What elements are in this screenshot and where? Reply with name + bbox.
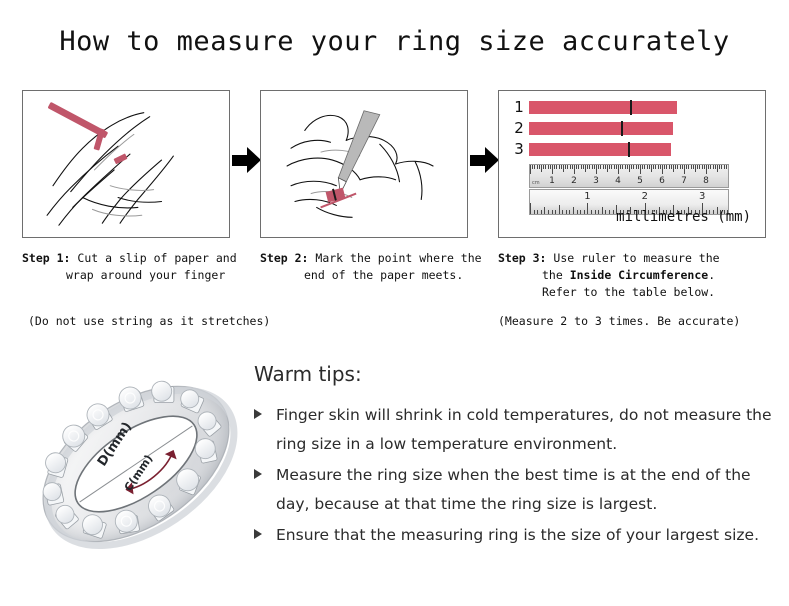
arrow-step2-to-step3-icon [470, 147, 500, 173]
ruler-caption: millimetres (mm) [499, 209, 751, 225]
tip-text: Ensure that the measuring ring is the si… [276, 526, 759, 544]
ruler-inch-label: 1 [584, 191, 590, 202]
ruler-tick [567, 165, 568, 169]
triangle-bullet-icon [254, 469, 262, 479]
ruler-tick [554, 165, 555, 169]
ruler-tick [717, 165, 718, 172]
ruler-tick [719, 165, 720, 169]
ruler-centimetre-scale: cm 12345678 [529, 164, 729, 188]
ruler-tick [589, 165, 590, 169]
ruler-tick [552, 165, 553, 174]
tip-text: Measure the ring size when the best time… [276, 466, 751, 513]
ruler-cm-label: 1 [549, 176, 555, 186]
ruler-tick [607, 165, 608, 172]
triangle-bullet-icon [254, 409, 262, 419]
ruler-tick [693, 165, 694, 169]
step-2-caption: Step 2: Mark the point where the end of … [260, 250, 490, 284]
ruler-tick [596, 165, 597, 174]
ruler-tick [666, 165, 667, 169]
step-1-line1: Cut a slip of paper and [77, 251, 236, 265]
ruler-tick [545, 165, 546, 169]
ruler-tick [614, 165, 615, 169]
ruler-tick [598, 165, 599, 169]
step-3-line2-prefix: the [542, 268, 570, 282]
ruler-tick [572, 165, 573, 169]
ruler-tick [585, 165, 586, 172]
ruler-tick [636, 165, 637, 169]
bar-number: 2 [509, 120, 529, 137]
mark-tick [628, 142, 630, 157]
ruler-tick [704, 165, 705, 169]
ruler-tick [556, 165, 557, 169]
ruler-tick [710, 165, 711, 169]
ruler-tick [655, 165, 656, 169]
ruler-tick [684, 165, 685, 174]
ruler-tick [673, 165, 674, 172]
ruler-tick [660, 165, 661, 169]
ruler-tick [688, 165, 689, 169]
step-3-line2-tail: . [708, 268, 715, 282]
paper-strip-bar [529, 101, 677, 114]
ruler-tick [691, 165, 692, 169]
ruler-tick [561, 165, 562, 169]
step-3-note: (Measure 2 to 3 times. Be accurate) [498, 314, 740, 328]
ruler-tick [651, 165, 652, 172]
ruler-tick [706, 165, 707, 174]
step-2-label: Step 2: [260, 251, 308, 265]
paper-strip-bars: 1 2 3 [509, 99, 759, 162]
bar-number: 3 [509, 141, 529, 158]
step-1-illustration-panel [22, 90, 230, 238]
ruler-tick [629, 165, 630, 172]
ruler-tick [620, 165, 621, 169]
ruler-cm-label: 5 [637, 176, 643, 186]
arrow-step1-to-step2-icon [232, 147, 262, 173]
ruler-tick [574, 165, 575, 174]
step-1-caption: Step 1: Cut a slip of paper and wrap aro… [22, 250, 252, 284]
ruler-tick [653, 165, 654, 169]
mark-tick [621, 121, 623, 136]
ruler-tick [537, 165, 538, 169]
ruler-cm-label: 8 [703, 176, 709, 186]
ruler-tick [686, 165, 687, 169]
pen-icon [338, 111, 379, 194]
ruler-tick [640, 165, 641, 174]
ruler-cm-label: 6 [659, 176, 665, 186]
bar-row: 3 [509, 141, 759, 158]
ruler-inch-label: 3 [699, 191, 705, 202]
ruler-tick [695, 165, 696, 172]
paper-strip-marked [321, 188, 357, 208]
step-3-line1: Use ruler to measure the [553, 251, 719, 265]
ruler-tick [534, 165, 535, 169]
ruler-tick [664, 165, 665, 169]
ruler-tick [587, 165, 588, 169]
ruler-tick [565, 165, 566, 169]
ruler-tick [581, 165, 582, 169]
ruler-tick [642, 165, 643, 169]
ruler-tick [699, 165, 700, 169]
ruler-tick [697, 165, 698, 169]
ruler-tick [616, 165, 617, 169]
ruler-tick [627, 165, 628, 169]
paper-strip-bar [529, 122, 673, 135]
ruler-tick [625, 165, 626, 169]
tip-item: Measure the ring size when the best time… [254, 461, 774, 519]
ruler-tick [583, 165, 584, 169]
ruler-tick [669, 165, 670, 169]
ruler-tick [532, 165, 533, 169]
ruler-tick [715, 165, 716, 169]
ruler-tick [631, 165, 632, 169]
ruler-tick [563, 165, 564, 172]
ruler-tick [728, 165, 729, 174]
step-2-line1: Mark the point where the [315, 251, 481, 265]
inside-circumference-emphasis: Inside Circumference [570, 268, 708, 282]
step-3-label: Step 3: [498, 251, 546, 265]
ring-diagram: D(mm) C(mm) [18, 352, 253, 577]
step-2-illustration-panel [260, 90, 468, 238]
ruler-tick [530, 165, 531, 174]
step-3-line3: Refer to the table below. [498, 284, 768, 301]
ruler-tick [600, 165, 601, 169]
warm-tips-title: Warm tips: [254, 362, 774, 386]
ruler-tick [611, 165, 612, 169]
ruler-tick [682, 165, 683, 169]
step-2-line2: end of the paper meets. [260, 267, 490, 284]
ruler-tick [721, 165, 722, 169]
ruler-cm-label: 3 [593, 176, 599, 186]
ruler-tick [726, 165, 727, 169]
step-1-note: (Do not use string as it stretches) [28, 314, 270, 328]
ruler-cm-label: 4 [615, 176, 621, 186]
ruler-tick [539, 165, 540, 169]
ruler-tick [675, 165, 676, 169]
ruler-tick [644, 165, 645, 169]
ruler-tick [541, 165, 542, 172]
ruler-tick [708, 165, 709, 169]
bar-number: 1 [509, 99, 529, 116]
ruler-tick [603, 165, 604, 169]
ruler-tick [649, 165, 650, 169]
paper-strip-wrapped [94, 128, 128, 164]
ruler-cm-label: 2 [571, 176, 577, 186]
hand-marking-paper-sketch [261, 91, 467, 237]
step-3-measurement-panel: 1 2 3 cm 12345678 123 millimetres (mm) [498, 90, 766, 238]
eternity-ring-illustration: D(mm) C(mm) [18, 352, 253, 577]
ruler-tick [592, 165, 593, 169]
ruler-tick [638, 165, 639, 169]
tip-item: Ensure that the measuring ring is the si… [254, 521, 774, 550]
warm-tips-section: Warm tips: Finger skin will shrink in co… [254, 362, 774, 552]
ruler-tick [618, 165, 619, 174]
ruler-tick [662, 165, 663, 174]
ruler-tick [713, 165, 714, 169]
ruler-tick [633, 165, 634, 169]
step-3-caption: Step 3: Use ruler to measure the the Ins… [498, 250, 768, 301]
tip-item: Finger skin will shrink in cold temperat… [254, 401, 774, 459]
ruler-tick [622, 165, 623, 169]
ruler-tick [647, 165, 648, 169]
ruler-tick [550, 165, 551, 169]
hand-with-paper-strip-sketch [23, 91, 229, 237]
page-title: How to measure your ring size accurately [0, 26, 789, 57]
ruler-tick [570, 165, 571, 169]
steps-row: 1 2 3 cm 12345678 123 millimetres (mm) [0, 90, 789, 240]
ruler-tick [578, 165, 579, 169]
bar-row: 2 [509, 120, 759, 137]
paper-strip-bar [529, 143, 671, 156]
mark-tick [630, 100, 632, 115]
ruler-tick [702, 165, 703, 169]
step-1-label: Step 1: [22, 251, 70, 265]
bar-row: 1 [509, 99, 759, 116]
triangle-bullet-icon [254, 529, 262, 539]
ruler-tick [724, 165, 725, 169]
ruler-tick [609, 165, 610, 169]
ruler-tick [548, 165, 549, 169]
ruler-inch-label: 2 [642, 191, 648, 202]
ruler-cm-label: 7 [681, 176, 687, 186]
ruler-unit-tag: cm [532, 180, 540, 186]
tip-text: Finger skin will shrink in cold temperat… [276, 406, 772, 453]
ruler-tick [576, 165, 577, 169]
ruler-tick [658, 165, 659, 169]
ruler-tick [677, 165, 678, 169]
ruler-tick [559, 165, 560, 169]
ruler-tick [543, 165, 544, 169]
ruler-tick [671, 165, 672, 169]
ruler-tick [605, 165, 606, 169]
step-1-line2: wrap around your finger [22, 267, 252, 284]
ruler-tick [594, 165, 595, 169]
step-3-line2: the Inside Circumference. [498, 267, 768, 284]
ruler-tick [680, 165, 681, 169]
ruler: cm 12345678 123 [529, 164, 729, 215]
